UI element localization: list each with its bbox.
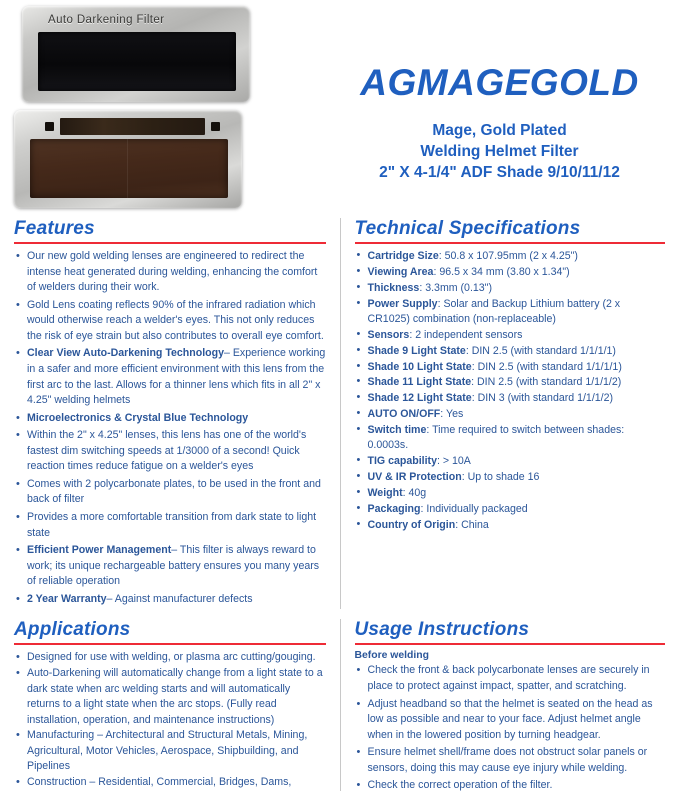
list-item: Our new gold welding lenses are engineer… [14, 249, 326, 296]
upper-band: Features Our new gold welding lenses are… [0, 218, 679, 609]
list-item: Shade 11 Light State: DIN 2.5 (with stan… [355, 375, 666, 390]
list-item: Viewing Area: 96.5 x 34 mm (3.80 x 1.34"… [355, 265, 666, 280]
list-item: Power Supply: Solar and Backup Lithium b… [355, 297, 666, 328]
list-item: Provides a more comfortable transition f… [14, 510, 326, 541]
list-item: TIG capability: > 10A [355, 454, 666, 469]
list-item-text: : China [455, 519, 489, 531]
list-item: Switch time: Time required to switch bet… [355, 423, 666, 454]
list-item: 2 Year Warranty– Against manufacturer de… [14, 592, 326, 608]
before-welding-heading: Before welding [355, 650, 666, 661]
list-item-text: Within the 2" x 4.25" lenses, this lens … [27, 429, 306, 472]
list-item-text: : DIN 2.5 (with standard 1/1/1/1) [472, 361, 622, 373]
list-item: Microelectronics & Crystal Blue Technolo… [14, 411, 326, 427]
features-rule [14, 242, 326, 244]
applications-title: Applications [14, 619, 326, 641]
list-item-lead: Microelectronics & Crystal Blue Technolo… [27, 412, 248, 424]
list-item: Designed for use with welding, or plasma… [14, 650, 326, 666]
product-spec-sheet: Auto Darkening Filter AGMAGEGOLD Mage, G… [0, 0, 679, 791]
list-item: Shade 10 Light State: DIN 2.5 (with stan… [355, 360, 666, 375]
list-item-lead: Power Supply [368, 298, 438, 310]
list-item-lead: Country of Origin [368, 519, 456, 531]
list-item: Sensors: 2 independent sensors [355, 328, 666, 343]
list-item: Country of Origin: China [355, 518, 666, 533]
list-item-text: Check the front & back polycarbonate len… [368, 664, 650, 692]
list-item-text: Designed for use with welding, or plasma… [27, 651, 316, 663]
sensor-left [45, 122, 54, 131]
gold-lens-area [30, 139, 228, 198]
list-item-lead: Shade 10 Light State [368, 361, 472, 373]
subtitle-line-2: Welding Helmet Filter [336, 142, 663, 163]
specifications-list: Cartridge Size: 50.8 x 107.95mm (2 x 4.2… [355, 249, 666, 533]
features-section: Features Our new gold welding lenses are… [0, 218, 340, 609]
list-item: Gold Lens coating reflects 90% of the in… [14, 298, 326, 345]
list-item-lead: Shade 11 Light State [368, 376, 472, 388]
list-item-text: Construction – Residential, Commercial, … [27, 776, 291, 791]
usage-section: Usage Instructions Before welding Check … [340, 619, 679, 791]
list-item: Within the 2" x 4.25" lenses, this lens … [14, 428, 326, 475]
list-item: Check the correct operation of the filte… [355, 778, 666, 791]
list-item-lead: AUTO ON/OFF [368, 408, 441, 420]
lower-band: Applications Designed for use with weldi… [0, 619, 679, 791]
title-block: AGMAGEGOLD Mage, Gold Plated Welding Hel… [330, 6, 679, 218]
list-item: Efficient Power Management– This filter … [14, 543, 326, 590]
product-images: Auto Darkening Filter [0, 6, 330, 218]
list-item-lead: Cartridge Size [368, 250, 439, 262]
list-item-lead: Efficient Power Management [27, 544, 171, 556]
list-item: Comes with 2 polycarbonate plates, to be… [14, 477, 326, 508]
features-title: Features [14, 218, 326, 240]
sensor-right [211, 122, 220, 131]
list-item: Auto-Darkening will automatically change… [14, 666, 326, 728]
list-item-lead: Viewing Area [368, 266, 434, 278]
brand-name: AGMAGEGOLD [336, 64, 663, 101]
list-item-text: : Up to shade 16 [462, 471, 540, 483]
list-item: Ensure helmet shell/frame does not obstr… [355, 745, 666, 776]
applications-list: Designed for use with welding, or plasma… [14, 650, 326, 791]
list-item: AUTO ON/OFF: Yes [355, 407, 666, 422]
header: Auto Darkening Filter AGMAGEGOLD Mage, G… [0, 0, 679, 218]
product-subtitle: Mage, Gold Plated Welding Helmet Filter … [336, 121, 663, 184]
list-item-text: : 96.5 x 34 mm (3.80 x 1.34") [433, 266, 569, 278]
list-item-text: Check the correct operation of the filte… [368, 779, 553, 791]
list-item: Clear View Auto-Darkening Technology– Ex… [14, 346, 326, 408]
list-item: Thickness: 3.3mm (0.13") [355, 281, 666, 296]
list-item-lead: Switch time [368, 424, 427, 436]
list-item-text: : Yes [440, 408, 463, 420]
list-item-lead: TIG capability [368, 455, 437, 467]
dark-lens-area [38, 32, 236, 91]
list-item-lead: 2 Year Warranty [27, 593, 107, 605]
subtitle-line-1: Mage, Gold Plated [336, 121, 663, 142]
features-list: Our new gold welding lenses are engineer… [14, 249, 326, 607]
list-item-lead: Shade 9 Light State [368, 345, 466, 357]
list-item-lead: Clear View Auto-Darkening Technology [27, 347, 224, 359]
list-item-text: : DIN 2.5 (with standard 1/1/1/2) [471, 376, 621, 388]
list-item-text: : 40g [403, 487, 427, 499]
list-item-lead: Sensors [368, 329, 410, 341]
list-item-text: : DIN 3 (with standard 1/1/1/2) [472, 392, 613, 404]
solar-panel-strip [60, 118, 205, 135]
usage-rule [355, 643, 666, 645]
specifications-section: Technical Specifications Cartridge Size:… [340, 218, 679, 609]
list-item-lead: Packaging [368, 503, 421, 515]
list-item-lead: UV & IR Protection [368, 471, 462, 483]
list-item-text: : > 10A [437, 455, 471, 467]
product-image-back [14, 110, 242, 208]
specifications-rule [355, 242, 666, 244]
list-item: Cartridge Size: 50.8 x 107.95mm (2 x 4.2… [355, 249, 666, 264]
list-item-text: Auto-Darkening will automatically change… [27, 667, 323, 726]
list-item-lead: Thickness [368, 282, 420, 294]
list-item-text: : DIN 2.5 (with standard 1/1/1/1) [466, 345, 616, 357]
list-item-text: Our new gold welding lenses are engineer… [27, 250, 317, 293]
applications-rule [14, 643, 326, 645]
list-item-lead: Shade 12 Light State [368, 392, 472, 404]
list-item: Shade 12 Light State: DIN 3 (with standa… [355, 391, 666, 406]
list-item-text: Comes with 2 polycarbonate plates, to be… [27, 478, 321, 506]
list-item: UV & IR Protection: Up to shade 16 [355, 470, 666, 485]
list-item: Construction – Residential, Commercial, … [14, 775, 326, 791]
usage-title: Usage Instructions [355, 619, 666, 641]
usage-list: Check the front & back polycarbonate len… [355, 663, 666, 791]
list-item-text: Ensure helmet shell/frame does not obstr… [368, 746, 648, 774]
list-item-lead: Weight [368, 487, 403, 499]
list-item: Packaging: Individually packaged [355, 502, 666, 517]
list-item-text: – Against manufacturer defects [107, 593, 253, 605]
list-item: Shade 9 Light State: DIN 2.5 (with stand… [355, 344, 666, 359]
list-item-text: : 2 independent sensors [409, 329, 522, 341]
filter-front-label: Auto Darkening Filter [48, 14, 164, 26]
list-item: Adjust headband so that the helmet is se… [355, 697, 666, 744]
list-item-text: Manufacturing – Architectural and Struct… [27, 729, 307, 772]
applications-section: Applications Designed for use with weldi… [0, 619, 340, 791]
list-item-text: : 3.3mm (0.13") [419, 282, 492, 294]
list-item-text: Provides a more comfortable transition f… [27, 511, 316, 539]
list-item-text: : Individually packaged [421, 503, 528, 515]
list-item: Manufacturing – Architectural and Struct… [14, 728, 326, 775]
list-item-text: : 50.8 x 107.95mm (2 x 4.25") [439, 250, 578, 262]
list-item-text: Gold Lens coating reflects 90% of the in… [27, 299, 324, 342]
subtitle-line-3: 2" X 4-1/4" ADF Shade 9/10/11/12 [336, 163, 663, 184]
list-item: Check the front & back polycarbonate len… [355, 663, 666, 694]
specifications-title: Technical Specifications [355, 218, 666, 240]
product-image-front: Auto Darkening Filter [22, 6, 250, 102]
list-item: Weight: 40g [355, 486, 666, 501]
list-item-text: Adjust headband so that the helmet is se… [368, 698, 653, 741]
